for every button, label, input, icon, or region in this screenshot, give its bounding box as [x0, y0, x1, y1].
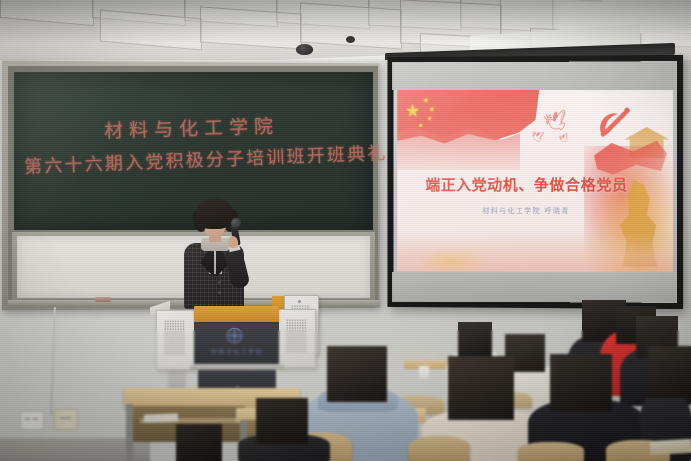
- presenter-button-1: [218, 281, 221, 284]
- desk-leg: [126, 404, 133, 461]
- chalk-piece[interactable]: [95, 297, 111, 302]
- presenter-hair: [196, 198, 233, 229]
- screen-bottom-band: [392, 272, 676, 302]
- wall-outlet-secondary[interactable]: [54, 409, 78, 430]
- party-emblem-icon: [592, 102, 634, 142]
- podium-name-text: 材料与化工学院: [200, 347, 274, 356]
- podium-speaker-grille-left-icon: [164, 320, 185, 355]
- audience-member-head: [458, 322, 492, 356]
- blackboard-text-line-1: 材料与化工学院: [104, 112, 280, 144]
- screen-top-band: [392, 62, 676, 90]
- classroom-photo: 材料与化工学院 第六十六期入党积极分子培训班开班典礼 ★ ★ ★ ★ ★: [0, 0, 691, 461]
- slide-subtitle: 材料与化工学院 呼晓青: [403, 206, 650, 216]
- chair-back: [408, 436, 470, 461]
- presentation-slide: ★ ★ ★ ★ ★ 🕊 🕊 🕊 端正入党动机、争做合格党员 材料与化工学院 呼晓…: [397, 87, 673, 272]
- notebook[interactable]: [650, 439, 691, 455]
- flag-star-large: ★: [405, 103, 420, 120]
- projection-screen[interactable]: ★ ★ ★ ★ ★ 🕊 🕊 🕊 端正入党动机、争做合格党员 材料与化工学院 呼晓…: [393, 61, 677, 303]
- desk-paper[interactable]: [144, 413, 178, 422]
- audience-member-head-foreground: [176, 424, 222, 461]
- slide-glow: [417, 248, 486, 273]
- podium-speaker-grille-right-icon: [286, 319, 306, 353]
- audience-member-head: [648, 346, 691, 398]
- chair-back: [518, 442, 584, 461]
- ceiling-sensor-icon: [346, 36, 355, 43]
- paper-cup[interactable]: [419, 366, 429, 379]
- audience-member-head: [448, 356, 514, 420]
- university-seal-icon: [226, 327, 243, 344]
- wall-outlet[interactable]: [20, 411, 44, 430]
- flag-star-small-3: ★: [427, 116, 432, 122]
- flag-star-small-4: ★: [418, 123, 423, 129]
- audience-member-head: [256, 398, 308, 444]
- audience-member-head: [550, 354, 612, 412]
- dove-icon-3: 🕊: [558, 132, 571, 144]
- flag-star-small-1: ★: [423, 98, 429, 105]
- dove-icon-2: 🕊: [530, 131, 544, 144]
- dome-camera-icon: [296, 44, 313, 55]
- flag-star-small-2: ★: [429, 106, 435, 113]
- audience-member-head: [327, 346, 387, 402]
- slide-title: 端正入党动机、争做合格党员: [403, 174, 650, 195]
- presenter-button-2: [218, 291, 221, 294]
- podium-wood-top: [194, 306, 279, 322]
